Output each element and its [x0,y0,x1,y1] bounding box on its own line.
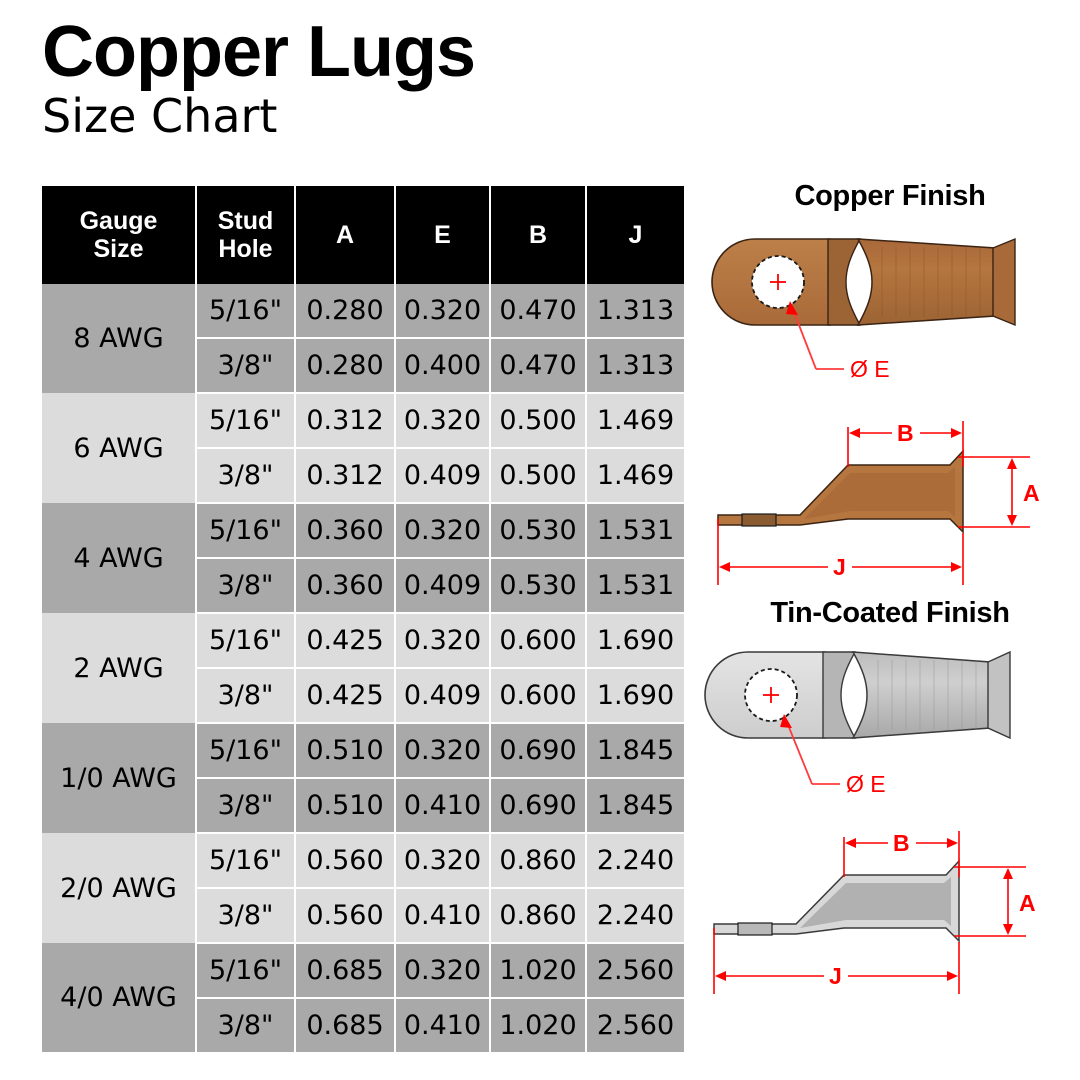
cell-j: 1.531 [586,558,684,613]
cell-j: 2.240 [586,888,684,943]
tin-lug-side-view-figure: B A J [700,819,1080,1009]
gauge-size-cell: 2 AWG [42,613,196,723]
cell-a: 0.425 [295,668,395,723]
cell-stud: 5/16" [196,393,295,448]
cell-a: 0.510 [295,778,395,833]
col-header-j: J [586,186,684,284]
cell-a: 0.685 [295,998,395,1052]
cell-a: 0.360 [295,558,395,613]
cell-b: 1.020 [490,943,586,998]
cell-j: 2.240 [586,833,684,888]
cell-b: 0.600 [490,668,586,723]
col-header-a: A [295,186,395,284]
table-row: 2 AWG5/16"0.4250.3200.6001.690 [42,613,684,668]
dim-j-arrow-right-icon [951,562,962,572]
gauge-size-cell: 6 AWG [42,393,196,503]
tin-coated-finish-heading: Tin-Coated Finish [700,597,1080,630]
tin-barrel-shape [853,652,990,738]
cell-stud: 5/16" [196,943,295,998]
copper-side-hole-marker [742,514,776,526]
cell-a: 0.685 [295,943,395,998]
gauge-size-cell: 1/0 AWG [42,723,196,833]
cell-e: 0.410 [395,778,490,833]
cell-b: 0.690 [490,723,586,778]
cell-stud: 5/16" [196,613,295,668]
col-header-gauge-line1: Gauge [42,207,195,235]
cell-j: 2.560 [586,943,684,998]
cell-j: 1.469 [586,393,684,448]
cell-e: 0.320 [395,613,490,668]
cell-a: 0.560 [295,833,395,888]
cell-b: 1.020 [490,998,586,1052]
copper-lug-side-view-figure: B A J [700,407,1080,597]
cell-b: 0.470 [490,284,586,338]
cell-b: 0.500 [490,448,586,503]
cell-a: 0.312 [295,448,395,503]
cell-stud: 5/16" [196,833,295,888]
cell-stud: 5/16" [196,503,295,558]
cell-e: 0.409 [395,448,490,503]
cell-stud: 3/8" [196,888,295,943]
gauge-size-cell: 8 AWG [42,284,196,393]
cell-j: 1.690 [586,613,684,668]
copper-finish-heading: Copper Finish [700,180,1080,213]
cell-a: 0.280 [295,284,395,338]
table-row: 8 AWG5/16"0.2800.3200.4701.313 [42,284,684,338]
page-title: Copper Lugs [42,18,702,86]
col-header-b: B [490,186,586,284]
cell-stud: 5/16" [196,723,295,778]
tin-dim-a-label: A [1019,890,1036,916]
dim-j-arrow-left-icon [719,562,730,572]
dim-b-arrow-right-icon [951,428,962,438]
cell-j: 1.531 [586,503,684,558]
cell-stud: 3/8" [196,448,295,503]
cell-stud: 3/8" [196,668,295,723]
col-header-stud-line2: Hole [197,235,294,263]
tin-dimension-a [954,867,1026,936]
cell-stud: 3/8" [196,998,295,1052]
copper-lug-top-view-figure: Ø E [700,217,1080,407]
page-subtitle: Size Chart [42,92,702,140]
cell-e: 0.320 [395,284,490,338]
cell-e: 0.409 [395,668,490,723]
cell-e: 0.320 [395,943,490,998]
cell-stud: 3/8" [196,338,295,393]
cell-b: 0.530 [490,503,586,558]
title-block: Copper Lugs Size Chart [42,18,702,141]
table-row: 2/0 AWG5/16"0.5600.3200.8602.240 [42,833,684,888]
table-body: 8 AWG5/16"0.2800.3200.4701.3133/8"0.2800… [42,284,684,1052]
copper-dim-a-label: A [1023,480,1040,506]
cell-e: 0.320 [395,833,490,888]
tin-barrel-end-shape [988,652,1010,738]
cell-stud: 5/16" [196,284,295,338]
copper-barrel-shape [858,239,995,325]
gauge-size-cell: 4/0 AWG [42,943,196,1052]
cell-b: 0.690 [490,778,586,833]
cell-b: 0.860 [490,888,586,943]
diagram-column: Copper Finish [700,180,1080,1009]
cell-a: 0.425 [295,613,395,668]
cell-stud: 3/8" [196,778,295,833]
dim-b-arrow-left-icon [849,428,860,438]
cell-b: 0.500 [490,393,586,448]
col-header-gauge-line2: Size [42,235,195,263]
table-row: 4/0 AWG5/16"0.6850.3201.0202.560 [42,943,684,998]
tin-dim-a-arrow-up-icon [1003,868,1013,879]
col-header-gauge-size: Gauge Size [42,186,196,284]
cell-a: 0.510 [295,723,395,778]
cell-a: 0.312 [295,393,395,448]
tin-dim-b-arrow-left-icon [845,838,856,848]
tin-dim-j-arrow-left-icon [715,971,726,981]
gauge-size-cell: 4 AWG [42,503,196,613]
cell-b: 0.600 [490,613,586,668]
col-header-e: E [395,186,490,284]
cell-j: 1.845 [586,778,684,833]
gauge-size-cell: 2/0 AWG [42,833,196,943]
tin-dim-b-arrow-right-icon [947,838,958,848]
cell-j: 1.313 [586,338,684,393]
cell-a: 0.280 [295,338,395,393]
cell-j: 2.560 [586,998,684,1052]
copper-hole-label: Ø E [850,356,890,382]
tin-side-hole-marker [738,923,772,935]
dim-a-arrow-down-icon [1007,515,1017,526]
cell-a: 0.360 [295,503,395,558]
table-row: 6 AWG5/16"0.3120.3200.5001.469 [42,393,684,448]
table-header-row: Gauge Size Stud Hole A E B J [42,186,684,284]
cell-stud: 3/8" [196,558,295,613]
cell-e: 0.320 [395,723,490,778]
col-header-stud-line1: Stud [197,207,294,235]
cell-e: 0.320 [395,503,490,558]
dim-a-arrow-up-icon [1007,458,1017,469]
table-row: 1/0 AWG5/16"0.5100.3200.6901.845 [42,723,684,778]
copper-barrel-end-shape [993,239,1015,325]
tin-dim-a-arrow-down-icon [1003,924,1013,935]
cell-e: 0.320 [395,393,490,448]
tin-neck-shape [823,652,855,738]
tin-hole-label: Ø E [846,771,886,797]
cell-a: 0.560 [295,888,395,943]
table-row: 4 AWG5/16"0.3600.3200.5301.531 [42,503,684,558]
dimension-a [958,457,1030,527]
cell-b: 0.530 [490,558,586,613]
cell-b: 0.860 [490,833,586,888]
tin-dim-b-label: B [893,830,910,856]
tin-dim-j-label: J [829,963,842,989]
cell-e: 0.400 [395,338,490,393]
cell-e: 0.410 [395,998,490,1052]
cell-j: 1.845 [586,723,684,778]
cell-j: 1.469 [586,448,684,503]
tin-dim-j-arrow-right-icon [947,971,958,981]
copper-neck-shape [828,239,860,325]
cell-b: 0.470 [490,338,586,393]
col-header-stud-hole: Stud Hole [196,186,295,284]
cell-j: 1.313 [586,284,684,338]
cell-e: 0.409 [395,558,490,613]
tin-lug-top-view-figure: Ø E [700,634,1080,819]
copper-dim-j-label: J [833,554,846,580]
copper-dim-b-label: B [897,420,914,446]
cell-e: 0.410 [395,888,490,943]
lug-size-table: Gauge Size Stud Hole A E B J 8 AWG5/16"0… [42,186,684,1052]
cell-j: 1.690 [586,668,684,723]
